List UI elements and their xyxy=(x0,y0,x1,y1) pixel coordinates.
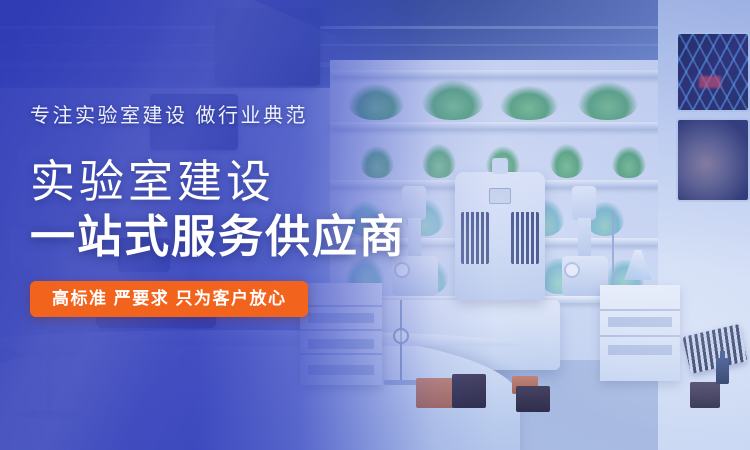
retort-stand-ring xyxy=(393,328,409,344)
promo-banner: 专注实验室建设 做行业典范 实验室建设 一站式服务供应商 高标准 严要求 只为客… xyxy=(0,0,750,450)
microscope-knob xyxy=(566,264,578,276)
banner-subtitle: 专注实验室建设 做行业典范 xyxy=(30,104,460,128)
sample-box xyxy=(516,386,550,412)
tower-seam xyxy=(600,309,680,311)
copy-block: 专注实验室建设 做行业典范 实验室建设 一站式服务供应商 高标准 严要求 只为客… xyxy=(30,104,460,317)
plant xyxy=(500,86,558,120)
retort-stand-foot xyxy=(384,380,418,385)
tower-seam xyxy=(300,353,382,355)
cell-imaging-screen xyxy=(676,118,750,202)
tower-slot xyxy=(308,365,374,375)
plant xyxy=(578,82,638,120)
central-analyzer-machine xyxy=(455,172,545,300)
instrument-tower-right xyxy=(600,285,680,381)
machine-display xyxy=(489,188,511,204)
lab-stool-leg xyxy=(46,352,52,414)
plant xyxy=(550,144,584,178)
tower-seam xyxy=(300,329,382,331)
microscope-arm xyxy=(578,218,591,258)
tower-slot xyxy=(608,317,672,327)
tower-slot xyxy=(608,345,672,355)
headline-line-1: 实验室建设 xyxy=(30,158,460,207)
overhead-monitor xyxy=(215,8,320,86)
headline-line-2: 一站式服务供应商 xyxy=(30,213,460,262)
sample-box xyxy=(690,382,720,408)
wall-shelf xyxy=(330,70,660,77)
lab-stool-base xyxy=(18,410,80,419)
cta-button[interactable]: 高标准 严要求 只为客户放心 xyxy=(30,281,308,317)
tower-seam xyxy=(600,335,680,337)
sample-box xyxy=(452,374,486,408)
dna-helix-graphic xyxy=(678,34,748,110)
tower-slot xyxy=(308,339,374,349)
dna-monitor-screen xyxy=(676,32,750,112)
microscope-head xyxy=(572,186,596,220)
vial-rack xyxy=(511,212,539,264)
flask-stand xyxy=(612,210,614,292)
vial-rack xyxy=(461,212,489,264)
reagent-bottle xyxy=(716,358,729,384)
plant xyxy=(612,146,646,178)
